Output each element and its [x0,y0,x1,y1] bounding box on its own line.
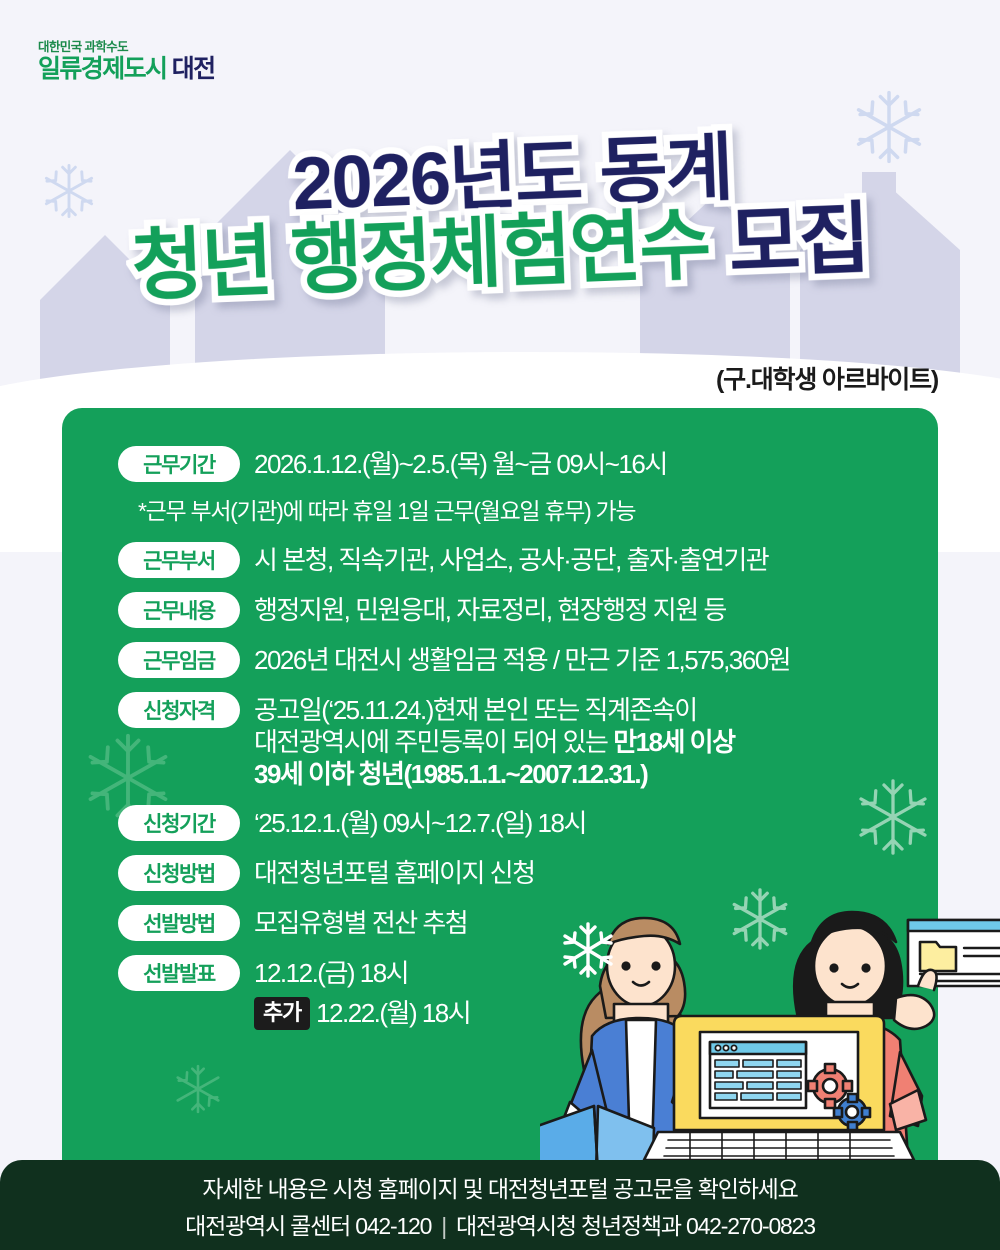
row-label-work-period: 근무기간 [118,446,240,482]
title-line-2-navy: 모집 [727,201,869,281]
announcement-extra: 추가12.22.(월) 18시 [254,997,470,1030]
row-note-work-period: *근무 부서(기관)에 따라 휴일 1일 근무(월요일 휴무) 가능 [62,492,938,526]
logo-wordmark-navy: 대전 [172,55,215,83]
row-apply-method: 신청방법 대전청년포털 홈페이지 신청 [62,855,938,891]
row-label-selection-method: 선발방법 [118,905,240,941]
status-badge-extra: 추가 [254,997,310,1030]
row-label-apply-period: 신청기간 [118,805,240,841]
logo-tagline: 대한민국 과학수도 [38,36,215,55]
city-logo: 대한민국 과학수도 일류경제도시 대전 [38,36,215,82]
footer-call-center: 대전광역시 콜센터 042-120 [185,1213,431,1239]
row-value-apply-method: 대전청년포털 홈페이지 신청 [254,855,535,889]
row-apply-period: 신청기간 ‘25.12.1.(월) 09시~12.7.(일) 18시 [62,805,938,841]
footer-separator: | [431,1213,456,1240]
poster-root: 대한민국 과학수도 일류경제도시 대전 2026년도 동계 청년 행정체험연수 … [0,0,1000,1250]
row-label-apply-method: 신청방법 [118,855,240,891]
laptop [644,1016,914,1170]
eligibility-line-2-bold: 만18세 이상 [613,727,734,757]
eligibility-line-2-plain: 대전광역시에 주민등록이 되어 있는 [254,727,613,757]
row-label-announcement: 선발발표 [118,955,240,991]
row-work-period: 근무기간 2026.1.12.(월)~2.5.(목) 월~금 09시~16시 [62,446,938,482]
footer-contact: 자세한 내용은 시청 홈페이지 및 대전청년포털 공고문을 확인하세요 대전광역… [0,1160,1000,1250]
title-line-2-green: 청년 행정체험연수 [130,207,710,304]
footer-line-1: 자세한 내용은 시청 홈페이지 및 대전청년포털 공고문을 확인하세요 [202,1170,797,1204]
illustration-students [540,890,1000,1170]
row-label-eligibility: 신청자격 [118,692,240,728]
row-value-work-period: 2026.1.12.(월)~2.5.(목) 월~금 09시~16시 [254,446,667,480]
eligibility-line-1: 공고일(‘25.11.24.)현재 본인 또는 직계존속이 [254,694,735,726]
announcement-primary: 12.12.(금) 18시 [254,957,470,989]
eligibility-line-2: 대전광역시에 주민등록이 되어 있는 만18세 이상 [254,726,735,758]
row-label-work-content: 근무내용 [118,592,240,628]
row-value-eligibility: 공고일(‘25.11.24.)현재 본인 또는 직계존속이 대전광역시에 주민등… [254,692,735,791]
row-value-work-dept: 시 본청, 직속기관, 사업소, 공사·공단, 출자·출연기관 [254,542,768,576]
row-eligibility: 신청자격 공고일(‘25.11.24.)현재 본인 또는 직계존속이 대전광역시… [62,692,938,791]
snowflake-icon [172,1063,224,1115]
poster-subtitle: (구.대학생 아르바이트) [716,360,938,396]
footer-line-2: 대전광역시 콜센터 042-120|대전광역시청 청년정책과 042-270-0… [185,1207,815,1241]
row-wage: 근무임금 2026년 대전시 생활임금 적용 / 만근 기준 1,575,360… [62,642,938,678]
row-work-dept: 근무부서 시 본청, 직속기관, 사업소, 공사·공단, 출자·출연기관 [62,542,938,578]
logo-wordmark-green: 일류경제도시 [38,55,166,83]
row-value-wage: 2026년 대전시 생활임금 적용 / 만근 기준 1,575,360원 [254,642,790,676]
row-value-work-content: 행정지원, 민원응대, 자료정리, 현장행정 지원 등 [254,592,726,626]
row-work-content: 근무내용 행정지원, 민원응대, 자료정리, 현장행정 지원 등 [62,592,938,628]
row-value-selection-method: 모집유형별 전산 추첨 [254,905,467,939]
eligibility-line-3: 39세 이하 청년(1985.1.1.~2007.12.31.) [254,758,735,790]
row-value-apply-period: ‘25.12.1.(월) 09시~12.7.(일) 18시 [254,805,586,839]
eligibility-line-3-bold: 39세 이하 청년(1985.1.1.~2007.12.31.) [254,759,647,789]
announcement-extra-value: 12.22.(월) 18시 [316,998,470,1028]
row-label-wage: 근무임금 [118,642,240,678]
logo-wordmark: 일류경제도시 대전 [38,57,215,82]
row-label-work-dept: 근무부서 [118,542,240,578]
poster-title: 2026년도 동계 청년 행정체험연수 모집 [0,140,1000,290]
footer-department: 대전광역시청 청년정책과 042-270-0823 [456,1213,815,1239]
row-value-announcement: 12.12.(금) 18시 추가12.22.(월) 18시 [254,955,470,1031]
